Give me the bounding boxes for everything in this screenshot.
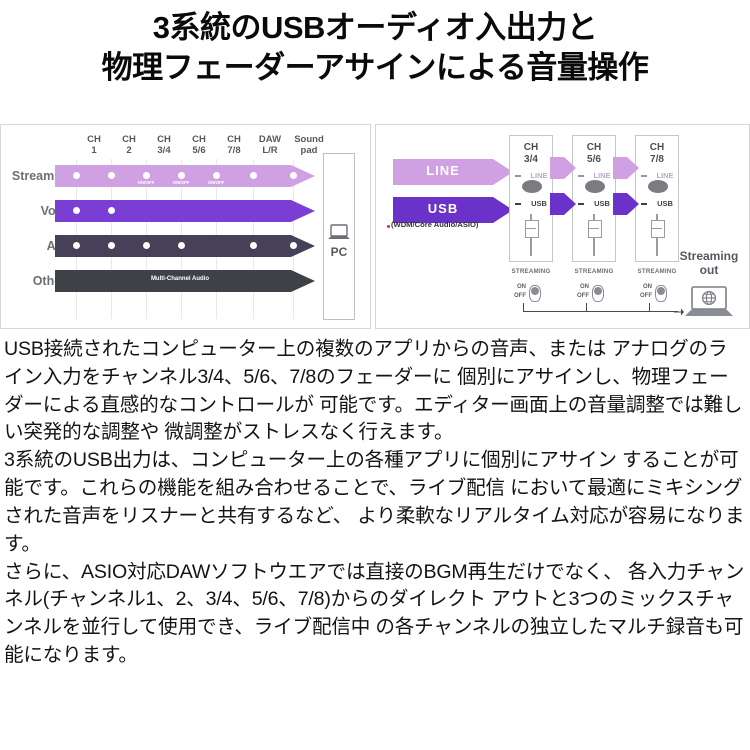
onoff-label-ch34: ON/OFF bbox=[133, 180, 159, 185]
ch34-fader-knob[interactable] bbox=[525, 220, 539, 238]
route-dot-aux-ch56 bbox=[178, 242, 185, 249]
body-paragraph-2: 3系統のUSB出力は、コンピューター上の各種アプリに個別にアサイン することが可… bbox=[4, 447, 746, 558]
route-dot-aux-ch1 bbox=[73, 242, 80, 249]
ch78-fader-knob[interactable] bbox=[651, 220, 665, 238]
pc-label: PC bbox=[319, 245, 359, 259]
body-text: USB接続されたコンピューター上の複数のアプリからの音声、または アナログのライ… bbox=[4, 336, 746, 670]
column-header-ch1-bottom: 1 bbox=[77, 146, 111, 157]
column-header-ch34: CH 3/4 bbox=[147, 135, 181, 156]
body-paragraph-1: USB接続されたコンピューター上の複数のアプリからの音声、または アナログのライ… bbox=[4, 336, 746, 447]
channel-strip-ch78: CH 7/8 LINE USB bbox=[635, 135, 679, 262]
column-header-ch56-bottom: 5/6 bbox=[182, 146, 216, 157]
chain-usb-arrow-1 bbox=[550, 193, 576, 215]
ch34-onoff-labels: ON OFF bbox=[510, 283, 526, 301]
line-input-label: LINE bbox=[393, 163, 493, 178]
route-dot-aux-ch2 bbox=[108, 242, 115, 249]
route-dot-streaming-daw bbox=[250, 172, 257, 179]
routing-arrow-streaming: ON/OFF ON/OFF ON/OFF bbox=[55, 165, 315, 187]
route-dot-streaming-ch78 bbox=[213, 172, 220, 179]
onoff-label-ch56: ON/OFF bbox=[168, 180, 194, 185]
laptop-icon bbox=[326, 223, 352, 243]
page-title-line1: 3系統のUSBオーディオ入出力と bbox=[0, 8, 750, 48]
diagram-strip: CH 1 CH 2 CH 3/4 CH 5/6 CH 7/8 DAW L/R bbox=[0, 124, 750, 329]
ch78-usb-label[interactable]: USB bbox=[636, 199, 686, 208]
chain-line-arrow-1 bbox=[550, 157, 576, 179]
bus-horizontal-line bbox=[523, 311, 678, 312]
chain-line-arrow-2 bbox=[613, 157, 639, 179]
line-input-arrow: LINE bbox=[393, 159, 513, 185]
channel-strip-ch78-label: CH 7/8 bbox=[636, 142, 678, 165]
routing-arrow-others: Multi-Channel Audio bbox=[55, 270, 315, 292]
page-title-line2: 物理フェーダーアサインによる音量操作 bbox=[0, 48, 750, 88]
page-root: 3系統のUSBオーディオ入出力と 物理フェーダーアサインによる音量操作 CH 1… bbox=[0, 0, 750, 750]
ch78-source-knob[interactable] bbox=[648, 180, 668, 193]
route-dot-voice-ch2 bbox=[108, 207, 115, 214]
routing-matrix-panel: CH 1 CH 2 CH 3/4 CH 5/6 CH 7/8 DAW L/R bbox=[0, 124, 371, 329]
channel-assign-panel: LINE USB (WDM/Core Audio/ASIO) CH 3/4 LI… bbox=[375, 124, 750, 329]
ch56-streaming-toggle[interactable] bbox=[592, 285, 604, 302]
column-header-daw-bottom: L/R bbox=[250, 146, 290, 157]
driver-note-label: (WDM/Core Audio/ASIO) bbox=[391, 220, 478, 229]
channel-strip-ch34-label: CH 3/4 bbox=[510, 142, 552, 165]
ch34-streaming-label: STREAMING bbox=[506, 268, 556, 275]
ch78-streaming-toggle[interactable] bbox=[655, 285, 667, 302]
column-header-ch78: CH 7/8 bbox=[217, 135, 251, 156]
streaming-out-label: Streaming out bbox=[669, 250, 749, 278]
route-dot-streaming-ch2 bbox=[108, 172, 115, 179]
route-dot-aux-daw bbox=[250, 242, 257, 249]
ch78-line-label[interactable]: LINE bbox=[636, 171, 686, 180]
route-dot-streaming-soundpad bbox=[290, 172, 297, 179]
channel-strip-ch34: CH 3/4 LINE USB bbox=[509, 135, 553, 262]
column-header-ch78-bottom: 7/8 bbox=[217, 146, 251, 157]
chain-usb-arrow-2 bbox=[613, 193, 639, 215]
column-header-ch1: CH 1 bbox=[77, 135, 111, 156]
route-dot-streaming-ch34 bbox=[143, 172, 150, 179]
routing-arrow-voice bbox=[55, 200, 315, 222]
multichannel-audio-label: Multi-Channel Audio bbox=[80, 276, 280, 282]
ch56-source-knob[interactable] bbox=[585, 180, 605, 193]
route-dot-streaming-ch1 bbox=[73, 172, 80, 179]
note-bullet-icon bbox=[387, 225, 390, 228]
column-header-ch2-bottom: 2 bbox=[112, 146, 146, 157]
column-header-daw: DAW L/R bbox=[250, 135, 290, 156]
routing-arrow-aux bbox=[55, 235, 315, 257]
route-dot-aux-soundpad bbox=[290, 242, 297, 249]
body-paragraph-3: さらに、ASIO対応DAWソフトウエアでは直接のBGM再生だけでなく、 各入力チ… bbox=[4, 559, 746, 670]
ch56-onoff-labels: ON OFF bbox=[573, 283, 589, 301]
laptop-globe-icon bbox=[681, 285, 737, 319]
ch56-streaming-label: STREAMING bbox=[569, 268, 619, 275]
channel-strip-ch56: CH 5/6 LINE USB bbox=[572, 135, 616, 262]
column-header-ch56: CH 5/6 bbox=[182, 135, 216, 156]
route-dot-voice-ch1 bbox=[73, 207, 80, 214]
channel-strip-ch56-label: CH 5/6 bbox=[573, 142, 615, 165]
column-header-ch34-bottom: 3/4 bbox=[147, 146, 181, 157]
ch56-fader-knob[interactable] bbox=[588, 220, 602, 238]
ch78-onoff-labels: ON OFF bbox=[636, 283, 652, 301]
onoff-label-ch78: ON/OFF bbox=[203, 180, 229, 185]
column-header-ch2: CH 2 bbox=[112, 135, 146, 156]
route-dot-aux-ch34 bbox=[143, 242, 150, 249]
ch34-source-knob[interactable] bbox=[522, 180, 542, 193]
route-dot-streaming-ch56 bbox=[178, 172, 185, 179]
usb-input-label: USB bbox=[393, 201, 493, 216]
ch34-streaming-toggle[interactable] bbox=[529, 285, 541, 302]
page-title: 3系統のUSBオーディオ入出力と 物理フェーダーアサインによる音量操作 bbox=[0, 8, 750, 89]
